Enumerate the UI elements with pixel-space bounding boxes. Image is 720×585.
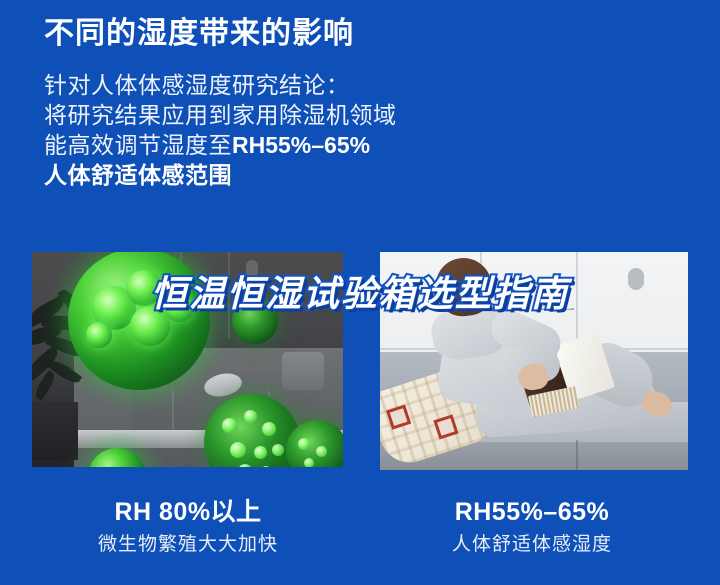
wall-seam (228, 252, 230, 338)
header-body: 针对人体体感湿度研究结论： 将研究结果应用到家用除湿机领域 能高效调节湿度至RH… (44, 70, 684, 190)
body-line-1: 针对人体体感湿度研究结论： (44, 70, 684, 100)
sofa-pillow (282, 352, 324, 390)
caption-sub-label: 微生物繁殖大大加快 (18, 532, 358, 558)
microbe-large (68, 252, 210, 390)
caption-sub-label: 人体舒适体感湿度 (362, 532, 702, 558)
caption-comfort-humidity: RH55%–65% 人体舒适体感湿度 (362, 496, 702, 558)
wall-knob (628, 268, 644, 290)
body-line-4: 人体舒适体感范围 (44, 160, 684, 190)
caption-row: RH 80%以上 微生物繁殖大大加快 RH55%–65% 人体舒适体感湿度 (0, 496, 720, 585)
caption-main-label: RH 80%以上 (18, 496, 358, 528)
page-title: 不同的湿度带来的影响 (44, 12, 684, 56)
dark-room-photo (32, 252, 343, 467)
hanging-plant (540, 252, 574, 310)
wall-knob (246, 260, 258, 278)
body-line-2: 将研究结果应用到家用除湿机领域 (44, 100, 684, 130)
body-line-3-prefix: 能高效调节湿度至 (44, 132, 232, 158)
caption-high-humidity: RH 80%以上 微生物繁殖大大加快 (18, 496, 358, 558)
panel-high-humidity (32, 252, 343, 467)
sofa-seam (576, 440, 578, 470)
photo-panels (0, 252, 720, 470)
bright-room-photo (380, 252, 688, 470)
header-block: 不同的湿度带来的影响 针对人体体感湿度研究结论： 将研究结果应用到家用除湿机领域… (44, 12, 684, 190)
body-line-3: 能高效调节湿度至RH55%–65% (44, 130, 684, 160)
poster-root: 不同的湿度带来的影响 针对人体体感湿度研究结论： 将研究结果应用到家用除湿机领域… (0, 0, 720, 585)
microbe-small (232, 298, 278, 344)
panel-comfort-humidity (380, 252, 688, 470)
humidity-range-value: RH55%–65% (232, 132, 370, 158)
caption-main-label: RH55%–65% (362, 496, 702, 528)
